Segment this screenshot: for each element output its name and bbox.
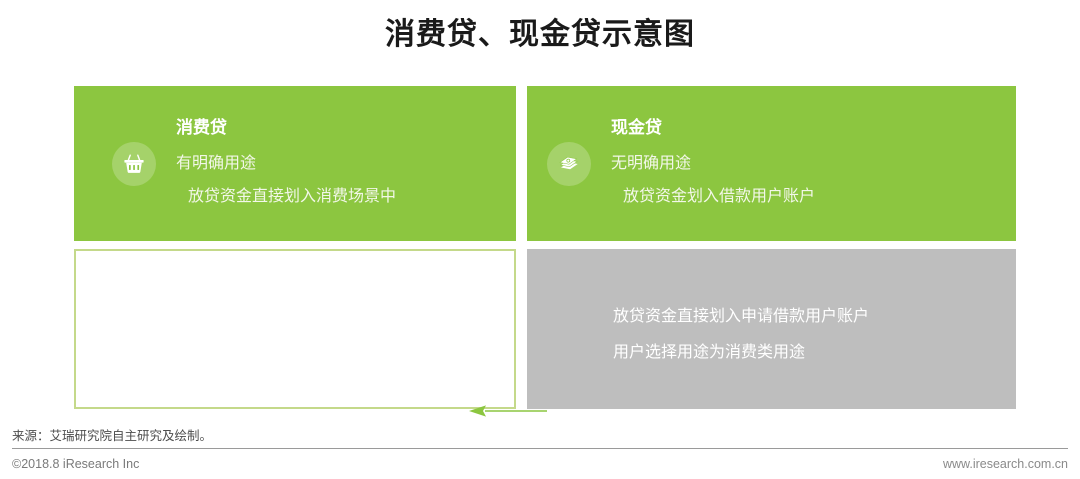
- footer-divider: [12, 448, 1068, 449]
- consumer-loan-line-2: 放贷资金直接划入消费场景中: [176, 180, 500, 213]
- consumer-loan-card-inner: 消费贷 有明确用途 放贷资金直接划入消费场景中: [74, 86, 516, 241]
- consumer-loan-card: 消费贷 有明确用途 放贷资金直接划入消费场景中: [74, 86, 516, 241]
- consumer-loan-heading: 消费贷: [176, 115, 500, 141]
- shopping-basket-icon: [112, 142, 156, 186]
- empty-outlined-card: [74, 249, 516, 409]
- cash-loan-card-inner: 现金贷 无明确用途 放贷资金划入借款用户账户: [527, 86, 1016, 241]
- grey-line-1: 放贷资金直接划入申请借款用户账户: [613, 299, 1013, 335]
- copyright-text: ©2018.8 iResearch Inc: [12, 455, 139, 473]
- money-stack-icon: [547, 142, 591, 186]
- cash-loan-line-2: 放贷资金划入借款用户账户: [611, 180, 1000, 213]
- page-title: 消费贷、现金贷示意图: [0, 14, 1080, 56]
- source-note: 来源：艾瑞研究院自主研究及绘制。: [12, 427, 212, 445]
- diagram-container: 消费贷 有明确用途 放贷资金直接划入消费场景中: [74, 86, 1016, 409]
- website-link[interactable]: www.iresearch.com.cn: [943, 455, 1068, 473]
- cash-loan-text: 现金贷 无明确用途 放贷资金划入借款用户账户: [611, 115, 1016, 213]
- consumer-loan-line-1: 有明确用途: [176, 147, 500, 180]
- grey-line-2: 用户选择用途为消费类用途: [613, 335, 1013, 371]
- cash-loan-card: 现金贷 无明确用途 放贷资金划入借款用户账户: [527, 86, 1016, 241]
- slide-canvas: 消费贷、现金贷示意图 消费贷 有明确: [0, 0, 1080, 479]
- cash-loan-line-1: 无明确用途: [611, 147, 1000, 180]
- grey-description-text: 放贷资金直接划入申请借款用户账户 用户选择用途为消费类用途: [613, 299, 1013, 371]
- flow-arrow-left-icon: [469, 404, 547, 418]
- cash-loan-heading: 现金贷: [611, 115, 1000, 141]
- consumer-loan-text: 消费贷 有明确用途 放贷资金直接划入消费场景中: [176, 115, 516, 213]
- grey-description-card: 放贷资金直接划入申请借款用户账户 用户选择用途为消费类用途: [527, 249, 1016, 409]
